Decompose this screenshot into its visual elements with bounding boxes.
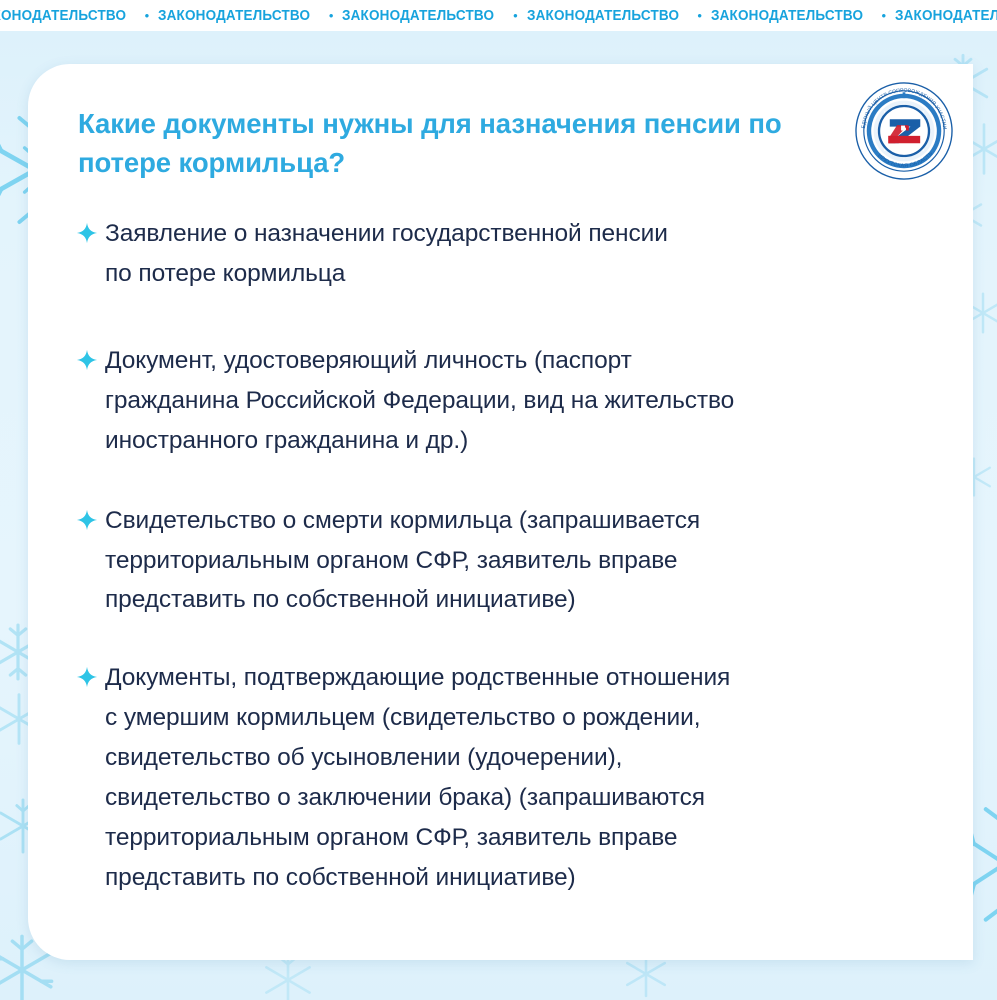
list-item-text: Документ, удостоверяющий личность (паспо…: [105, 341, 936, 461]
marquee-word: ЗАКОНОДАТЕЛЬСТВО: [711, 8, 863, 24]
list-item-text: Свидетельство о смерти кормильца (запраш…: [105, 501, 936, 621]
marquee-separator-dot-icon: •: [513, 9, 518, 22]
marquee-word: ЗАКОНОДАТЕЛЬСТВО: [895, 8, 997, 24]
list-item-line: представить по собственной инициативе): [105, 858, 936, 898]
page-title-line-1: Какие документы нужны для назначения пен…: [78, 108, 741, 139]
marquee-track: ЗАКОНОДАТЕЛЬСТВО•ЗАКОНОДАТЕЛЬСТВО•ЗАКОНО…: [0, 8, 997, 24]
list-item-line: Документ, удостоверяющий личность (паспо…: [105, 341, 936, 381]
marquee-word: ЗАКОНОДАТЕЛЬСТВО: [527, 8, 679, 24]
four-point-star-icon: [76, 509, 98, 531]
marquee-separator-dot-icon: •: [145, 9, 150, 22]
list-item-line: иностранного гражданина и др.): [105, 421, 936, 461]
list-item: Свидетельство о смерти кормильца (запраш…: [76, 501, 936, 621]
list-item: Заявление о назначении государственной п…: [76, 214, 936, 294]
list-item-line: по потере кормильца: [105, 254, 936, 294]
svo-support-center-logo-icon: ЕДИНЫЙ ЦЕНТР СОПРОВОЖДЕНИЯ УЧАСТНИКОВ СВ…: [855, 82, 953, 180]
list-item: Документ, удостоверяющий личность (паспо…: [76, 341, 936, 461]
marquee-word: ЗАКОНОДАТЕЛЬСТВО: [342, 8, 494, 24]
list-item-line: Документы, подтверждающие родственные от…: [105, 658, 936, 698]
marquee-word: ЗАКОНОДАТЕЛЬСТВО: [0, 8, 126, 24]
four-point-star-icon: [76, 349, 98, 371]
list-item-text: Заявление о назначении государственной п…: [105, 214, 936, 294]
legislation-marquee-banner: ЗАКОНОДАТЕЛЬСТВО•ЗАКОНОДАТЕЛЬСТВО•ЗАКОНО…: [0, 0, 997, 31]
marquee-separator-dot-icon: •: [882, 9, 887, 22]
list-item: Документы, подтверждающие родственные от…: [76, 658, 936, 898]
list-item-line: с умершим кормильцем (свидетельство о ро…: [105, 698, 936, 738]
list-item-line: территориальным органом СФР, заявитель в…: [105, 818, 936, 858]
poster-canvas: ЗАКОНОДАТЕЛЬСТВО•ЗАКОНОДАТЕЛЬСТВО•ЗАКОНО…: [0, 0, 997, 1000]
list-item-line: свидетельство о заключении брака) (запра…: [105, 778, 936, 818]
marquee-word: ЗАКОНОДАТЕЛЬСТВО: [158, 8, 310, 24]
list-item-text: Документы, подтверждающие родственные от…: [105, 658, 936, 898]
marquee-separator-dot-icon: •: [697, 9, 702, 22]
four-point-star-icon: [76, 666, 98, 688]
page-title: Какие документы нужны для назначения пен…: [78, 104, 808, 182]
documents-list: Заявление о назначении государственной п…: [76, 214, 936, 898]
list-item-line: Заявление о назначении государственной п…: [105, 214, 936, 254]
marquee-separator-dot-icon: •: [329, 9, 334, 22]
list-item-line: территориальным органом СФР, заявитель в…: [105, 541, 936, 581]
list-item-line: гражданина Российской Федерации, вид на …: [105, 381, 936, 421]
list-item-line: Свидетельство о смерти кормильца (запраш…: [105, 501, 936, 541]
content-card: Какие документы нужны для назначения пен…: [28, 64, 973, 960]
four-point-star-icon: [76, 222, 98, 244]
list-item-line: свидетельство об усыновлении (удочерении…: [105, 738, 936, 778]
list-item-line: представить по собственной инициативе): [105, 580, 936, 620]
